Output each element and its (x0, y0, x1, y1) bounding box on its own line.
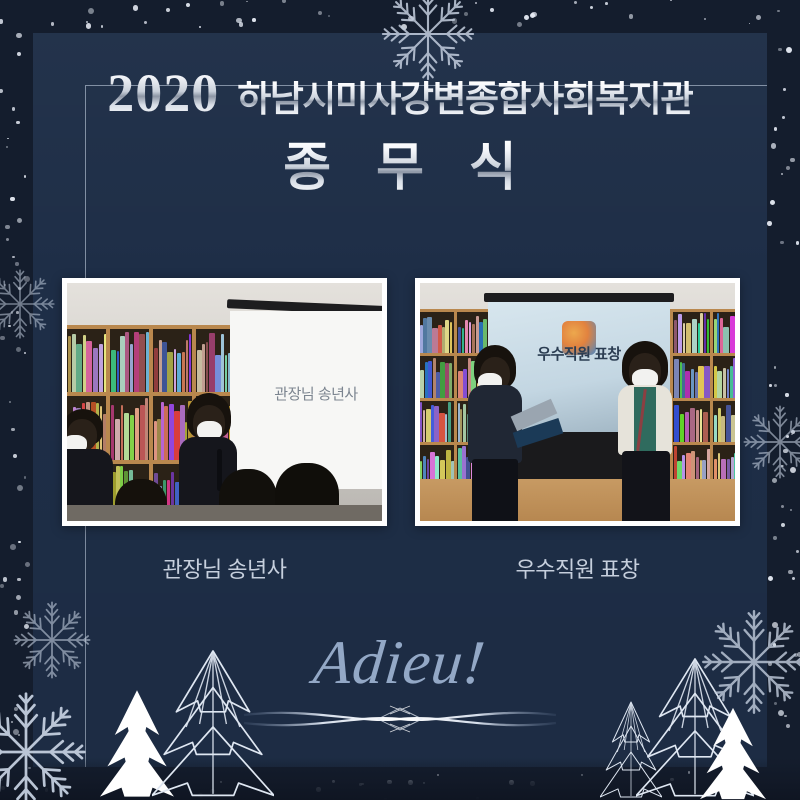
book (215, 355, 220, 393)
star (86, 21, 88, 23)
book (696, 410, 700, 442)
star (401, 24, 407, 30)
book (674, 320, 677, 353)
book (145, 398, 147, 460)
star (786, 435, 789, 438)
book (458, 371, 463, 397)
shelf-cell (420, 401, 454, 442)
photo-right[interactable]: 우수직원 표창 (415, 278, 740, 526)
star (767, 221, 772, 226)
star (8, 325, 10, 327)
book (104, 334, 106, 393)
book (177, 353, 181, 392)
book (440, 362, 444, 397)
book (427, 317, 431, 354)
book (442, 327, 445, 353)
star (4, 284, 6, 286)
star (24, 624, 29, 629)
star (16, 595, 21, 600)
star (318, 11, 322, 15)
shelf-cell (420, 356, 454, 397)
star (790, 509, 792, 511)
book (723, 327, 728, 354)
book (695, 372, 698, 397)
star (24, 352, 27, 355)
star (574, 1, 577, 4)
book (423, 410, 425, 442)
book (420, 325, 423, 354)
book (93, 348, 99, 392)
star (464, 12, 468, 16)
star (524, 15, 529, 20)
book (726, 405, 731, 442)
shelf-cell (67, 329, 106, 392)
star (10, 544, 16, 550)
star (24, 476, 27, 479)
book (139, 334, 145, 392)
star (220, 1, 224, 5)
star (133, 5, 139, 11)
book (731, 415, 735, 442)
book (206, 342, 208, 393)
book (683, 323, 686, 353)
star (16, 347, 21, 352)
book (704, 313, 706, 353)
star (796, 550, 799, 553)
star (517, 22, 522, 27)
flourish-divider-icon (0, 702, 800, 741)
star (144, 21, 148, 25)
book (431, 405, 434, 442)
star (25, 562, 30, 567)
book (717, 371, 722, 398)
screen-frame-top (484, 293, 674, 302)
book (700, 313, 703, 353)
star (749, 23, 751, 25)
book (189, 334, 191, 392)
star (239, 22, 244, 27)
book (674, 405, 679, 442)
photo-left-image: 관장님 송년사 (67, 283, 382, 521)
book (450, 322, 452, 354)
star (772, 478, 777, 483)
book (462, 328, 465, 353)
star (756, 15, 761, 20)
star (781, 505, 784, 508)
star (408, 16, 414, 22)
book (707, 319, 710, 353)
book (121, 405, 124, 460)
shelf-cell (673, 401, 710, 442)
star (282, 0, 286, 3)
star (86, 23, 91, 28)
star (777, 10, 780, 13)
star (13, 454, 17, 458)
book (428, 361, 432, 397)
book (433, 358, 436, 398)
book (460, 409, 462, 442)
book (718, 408, 721, 442)
caption-right: 우수직원 표창 (415, 552, 740, 584)
caption-left: 관장님 송년사 (62, 552, 387, 584)
star (781, 523, 785, 527)
star (199, 26, 201, 28)
book (161, 402, 163, 460)
star (328, 15, 330, 17)
star (88, 8, 94, 14)
book (721, 416, 725, 442)
book (186, 340, 188, 393)
book (120, 336, 125, 392)
star (11, 311, 13, 313)
book (135, 408, 139, 460)
book (714, 415, 718, 442)
book (704, 366, 709, 398)
book (445, 363, 448, 397)
adieu-text: Adieu! (311, 632, 489, 694)
book (164, 406, 167, 460)
book (426, 409, 431, 442)
star (704, 18, 706, 20)
book (197, 350, 202, 393)
book (703, 412, 708, 442)
star (670, 0, 672, 1)
star (781, 465, 783, 467)
star (490, 8, 494, 12)
recipient-person (616, 341, 674, 521)
book (730, 366, 733, 397)
star (791, 430, 796, 435)
shelf-cell (713, 401, 736, 442)
star (246, 1, 248, 3)
book (434, 406, 438, 441)
star (605, 2, 608, 5)
title-organization: 하남시미사강변종합사회복지관 (237, 81, 693, 118)
star (790, 467, 796, 473)
book (202, 344, 205, 392)
star (24, 276, 30, 282)
book (463, 404, 467, 441)
book (445, 414, 447, 442)
book (86, 341, 92, 393)
star (778, 48, 781, 51)
star (3, 577, 8, 582)
star (780, 241, 783, 244)
book (685, 371, 690, 397)
star (475, 2, 477, 4)
book (420, 402, 422, 442)
star (768, 576, 774, 582)
book (717, 313, 719, 353)
shelf-cell (110, 329, 149, 392)
book (124, 413, 129, 460)
book (167, 352, 172, 392)
book (438, 325, 441, 353)
book (162, 342, 167, 392)
presenter-person (468, 345, 524, 521)
star (782, 465, 784, 467)
star (17, 218, 22, 223)
book (209, 333, 215, 392)
book (154, 421, 157, 460)
star (0, 19, 3, 24)
book (221, 334, 223, 392)
star (786, 47, 792, 53)
star (531, 12, 537, 18)
book (225, 355, 228, 392)
title-line-one: 2020 하남시미사강변종합사회복지관 (0, 66, 800, 120)
book (698, 366, 703, 397)
book (125, 332, 128, 392)
star (770, 200, 775, 205)
book (720, 318, 723, 353)
star (166, 8, 170, 12)
star (15, 262, 18, 265)
book (674, 359, 679, 398)
book (691, 369, 694, 397)
book (680, 414, 685, 442)
book (432, 328, 437, 353)
book (130, 344, 134, 393)
star (785, 393, 788, 396)
book (72, 334, 76, 393)
book (686, 323, 691, 354)
star (11, 428, 14, 431)
star (791, 434, 793, 436)
star (788, 570, 792, 574)
star (51, 22, 54, 25)
star (629, 14, 634, 19)
shelf-cell (673, 356, 710, 397)
star (10, 197, 15, 202)
star (0, 584, 4, 588)
star (590, 6, 593, 9)
book (436, 372, 439, 398)
star (774, 384, 777, 387)
star (6, 238, 9, 241)
shelf-cell (713, 312, 736, 353)
shelf-cell (110, 396, 149, 459)
star (530, 13, 535, 18)
star (17, 52, 21, 56)
book (678, 314, 682, 353)
book (700, 409, 702, 442)
book (449, 363, 452, 398)
star (5, 225, 10, 230)
star (796, 241, 799, 244)
book (174, 349, 177, 393)
star (452, 18, 457, 23)
bottom-shadow-band (0, 758, 800, 800)
book (723, 368, 726, 398)
star (774, 366, 776, 368)
star (0, 336, 4, 340)
star (783, 449, 787, 453)
book (714, 319, 717, 354)
screen-text-left: 관장님 송년사 (230, 383, 382, 404)
star (17, 485, 23, 491)
book (420, 370, 424, 398)
star (18, 287, 21, 290)
book (146, 332, 149, 392)
poster-canvas: 2020 하남시미사강변종합사회복지관 종 무 식 관장님 송년사 (0, 0, 800, 800)
book (692, 319, 697, 353)
title-year: 2020 (107, 66, 219, 120)
star (772, 622, 778, 628)
star (236, 18, 242, 24)
book (714, 366, 717, 398)
page-title: 2020 하남시미사강변종합사회복지관 종 무 식 (0, 66, 800, 197)
book (463, 369, 467, 397)
book (448, 402, 451, 442)
book (182, 352, 185, 392)
star (773, 536, 777, 540)
star (186, 3, 190, 7)
book (68, 336, 71, 392)
star (792, 577, 795, 580)
star (17, 578, 20, 581)
star (18, 541, 20, 543)
book (730, 316, 735, 353)
shelf-cell (420, 312, 454, 353)
photo-left[interactable]: 관장님 송년사 (62, 278, 387, 526)
adieu-block: Adieu! (0, 632, 800, 741)
book (425, 362, 428, 398)
star (101, 25, 104, 28)
title-event: 종 무 식 (267, 140, 533, 197)
book (154, 348, 158, 392)
shelf-cell (153, 329, 192, 392)
photo-right-image: 우수직원 표창 (420, 283, 735, 521)
book (445, 320, 449, 353)
star (252, 18, 256, 22)
book (423, 318, 427, 353)
book (690, 408, 695, 442)
star (12, 256, 15, 259)
book (115, 419, 120, 459)
book (134, 332, 139, 392)
shelf-cell (673, 312, 710, 353)
book (140, 405, 145, 459)
book (159, 340, 162, 393)
book (99, 344, 103, 392)
book (685, 412, 690, 441)
star (14, 610, 18, 614)
book (439, 413, 444, 442)
star (9, 401, 11, 403)
book (169, 404, 174, 459)
book (76, 344, 82, 392)
book (111, 350, 116, 392)
book (117, 351, 119, 392)
star (16, 311, 19, 314)
book (157, 419, 160, 460)
book (458, 327, 462, 353)
book (727, 369, 730, 397)
star (16, 33, 21, 38)
book (733, 358, 735, 397)
star (769, 384, 772, 387)
shelf-cell (713, 356, 736, 397)
book (130, 415, 134, 459)
book (83, 335, 86, 392)
